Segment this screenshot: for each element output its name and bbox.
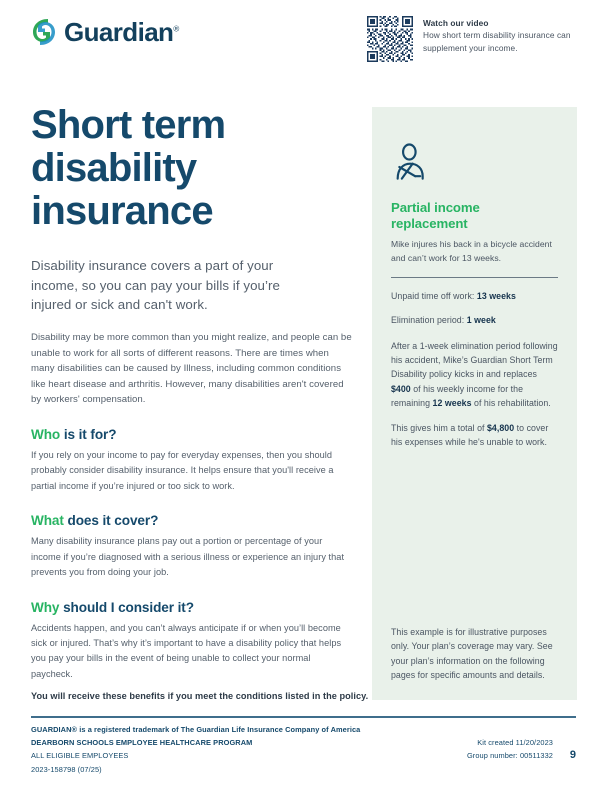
panel-stat-unpaid-time: Unpaid time off work: 13 weeks — [391, 290, 558, 304]
panel-exp2-a: This gives him a total of — [391, 423, 487, 433]
page-footer: GUARDIAN® is a registered trademark of T… — [31, 723, 576, 783]
section-heading-what: What does it cover? — [31, 513, 361, 528]
section-heading-why: Why should I consider it? — [31, 600, 361, 615]
document-page: Guardian® — [0, 0, 607, 787]
footer-trademark: GUARDIAN® is a registered trademark of T… — [31, 723, 360, 736]
panel-title: Partial income replacement — [391, 200, 558, 231]
section-what: What does it cover? Many disability insu… — [31, 513, 361, 580]
section-heading-rest-what: does it cover? — [64, 513, 158, 528]
panel-stat-elimination-period: Elimination period: 1 week — [391, 314, 558, 328]
footer-kit-created: Kit created 11/20/2023 — [467, 736, 553, 749]
watch-video-block[interactable]: Watch our video How short term disabilit… — [367, 16, 598, 62]
registered-mark: ® — [173, 24, 178, 33]
section-keyword-who: Who — [31, 427, 60, 442]
panel-exp1-weeks: 12 weeks — [433, 398, 472, 408]
panel-scenario: Mike injures his back in a bicycle accid… — [391, 238, 558, 266]
logo-wordmark: Guardian® — [64, 19, 179, 45]
lede-paragraph: Disability insurance covers a part of yo… — [31, 256, 323, 314]
panel-exp1-e: of his rehabilitation. — [472, 398, 551, 408]
footer-eligibility: ALL ELIGIBLE EMPLOYEES — [31, 749, 360, 762]
panel-exp1-a: After a 1-week elimination period follow… — [391, 341, 558, 380]
panel-explanation-1: After a 1-week elimination period follow… — [391, 339, 558, 410]
footer-program: DEARBORN SCHOOLS EMPLOYEE HEALTHCARE PRO… — [31, 736, 360, 749]
section-body-who: If you rely on your income to pay for ev… — [31, 448, 349, 494]
footer-doc-code: 2023-158798 (07/25) — [31, 763, 360, 776]
video-title: Watch our video — [423, 17, 598, 29]
panel-stat-value-0: 13 weeks — [477, 291, 516, 301]
example-panel-inner: Partial income replacement Mike injures … — [372, 107, 577, 450]
person-arm-sling-icon — [391, 142, 431, 182]
page-title: Short term disability insurance — [31, 104, 361, 232]
footer-right-block: Kit created 11/20/2023 Group number: 005… — [467, 736, 553, 762]
page-header: Guardian® — [0, 0, 607, 86]
video-text-group: Watch our video How short term disabilit… — [423, 16, 598, 55]
panel-stat-label-0: Unpaid time off work: — [391, 291, 477, 301]
section-keyword-what: What — [31, 513, 64, 528]
guardian-logo: Guardian® — [31, 17, 179, 47]
section-who: Who is it for? If you rely on your incom… — [31, 427, 361, 494]
panel-explanation-2: This gives him a total of $4,800 to cove… — [391, 421, 558, 450]
page-number: 9 — [570, 749, 576, 761]
panel-stat-label-1: Elimination period: — [391, 315, 467, 325]
section-heading-rest-who: is it for? — [60, 427, 116, 442]
guardian-g-mark-icon — [31, 17, 57, 47]
video-subtitle: How short term disability insurance can … — [423, 29, 598, 55]
footer-group-number: Group number: 00511332 — [467, 749, 553, 762]
panel-exp1-amount: $400 — [391, 384, 411, 394]
panel-divider — [391, 277, 558, 278]
qr-code-icon[interactable] — [367, 16, 413, 62]
footer-left-block: GUARDIAN® is a registered trademark of T… — [31, 723, 360, 776]
section-body-why: Accidents happen, and you can’t always a… — [31, 621, 349, 683]
section-heading-who: Who is it for? — [31, 427, 361, 442]
panel-exp2-total: $4,800 — [487, 423, 514, 433]
panel-stat-value-1: 1 week — [467, 315, 496, 325]
panel-disclaimer: This example is for illustrative purpose… — [391, 625, 559, 682]
main-content-column: Short term disability insurance Disabili… — [31, 104, 361, 682]
intro-paragraph: Disability may be more common than you m… — [31, 330, 355, 408]
section-heading-rest-why: should I consider it? — [59, 600, 194, 615]
section-body-what: Many disability insurance plans pay out … — [31, 534, 349, 580]
section-keyword-why: Why — [31, 600, 59, 615]
footer-divider — [31, 716, 576, 718]
section-why: Why should I consider it? Accidents happ… — [31, 600, 361, 683]
closing-note: You will receive these benefits if you m… — [31, 691, 371, 701]
example-panel: Partial income replacement Mike injures … — [372, 107, 577, 700]
